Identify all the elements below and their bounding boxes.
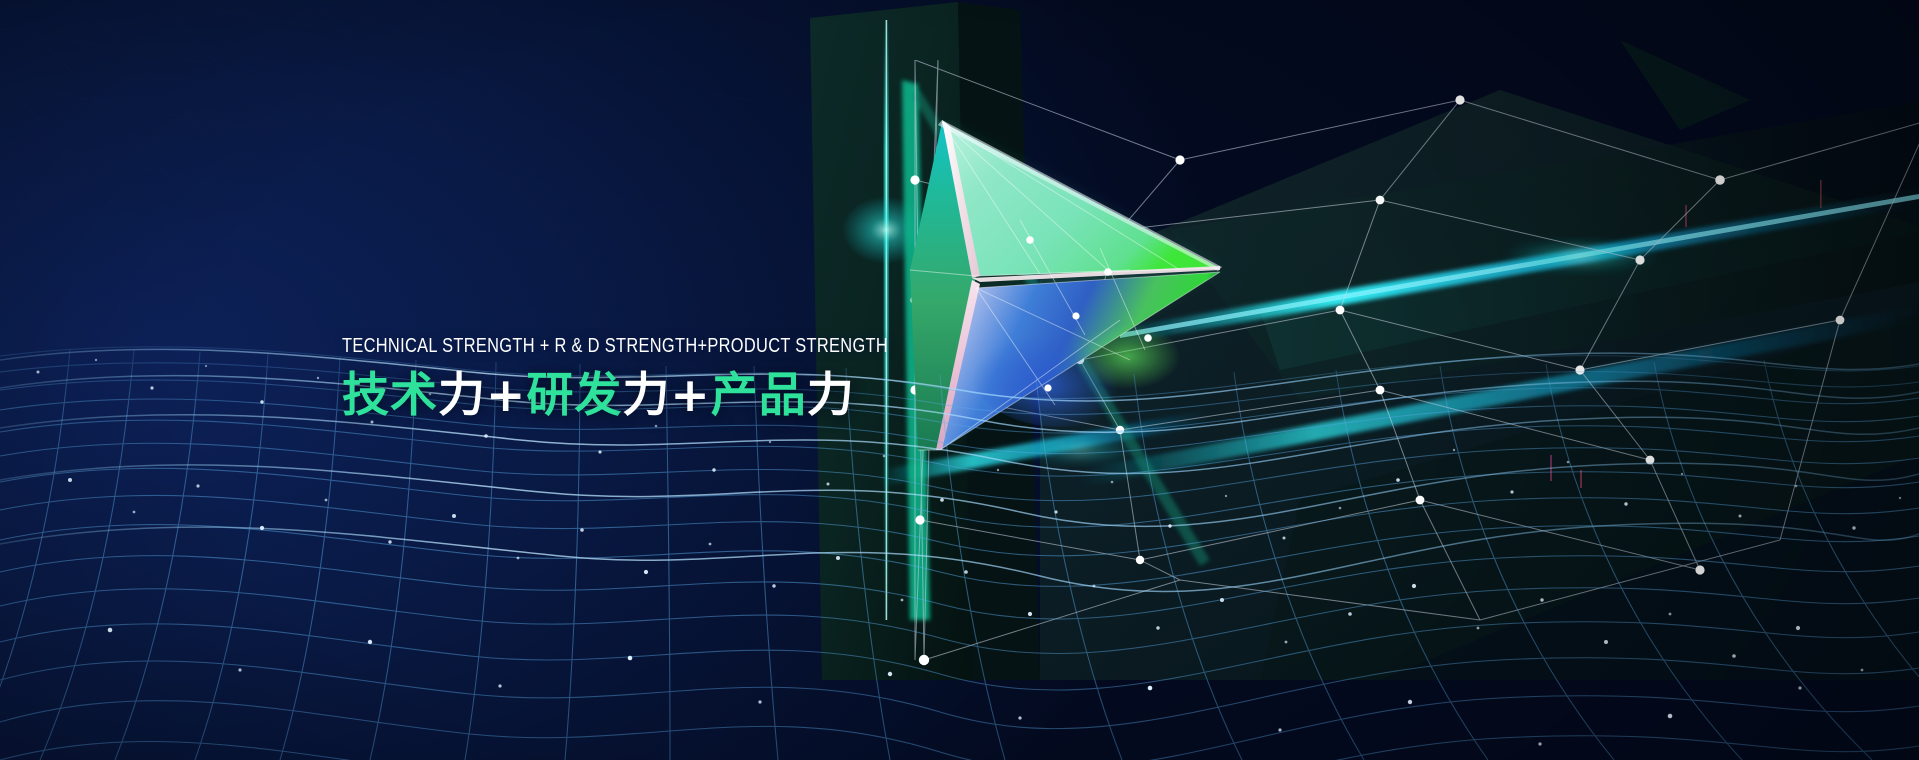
title-segment-4: 研发 <box>526 368 622 423</box>
title-segment-8: 力 <box>807 368 855 423</box>
title-segment-3: + <box>486 368 526 423</box>
sky-grid-decoration <box>0 0 1060 560</box>
headline-block: TECHNICAL STRENGTH + R & D STRENGTH+PROD… <box>342 336 1102 422</box>
title-segment-2: 力 <box>438 368 486 423</box>
title-segment-5: 力 <box>622 368 670 423</box>
title-segment-7: 产品 <box>711 368 807 423</box>
banner-title: 技术力+研发力+产品力 <box>342 370 1102 423</box>
banner-kicker: TECHNICAL STRENGTH + R & D STRENGTH+PROD… <box>342 336 950 357</box>
title-segment-6: + <box>670 368 710 423</box>
prism-triangle-graphic <box>880 120 1300 520</box>
title-segment-1: 技术 <box>342 368 438 423</box>
hero-banner: TECHNICAL STRENGTH + R & D STRENGTH+PROD… <box>0 0 1919 760</box>
